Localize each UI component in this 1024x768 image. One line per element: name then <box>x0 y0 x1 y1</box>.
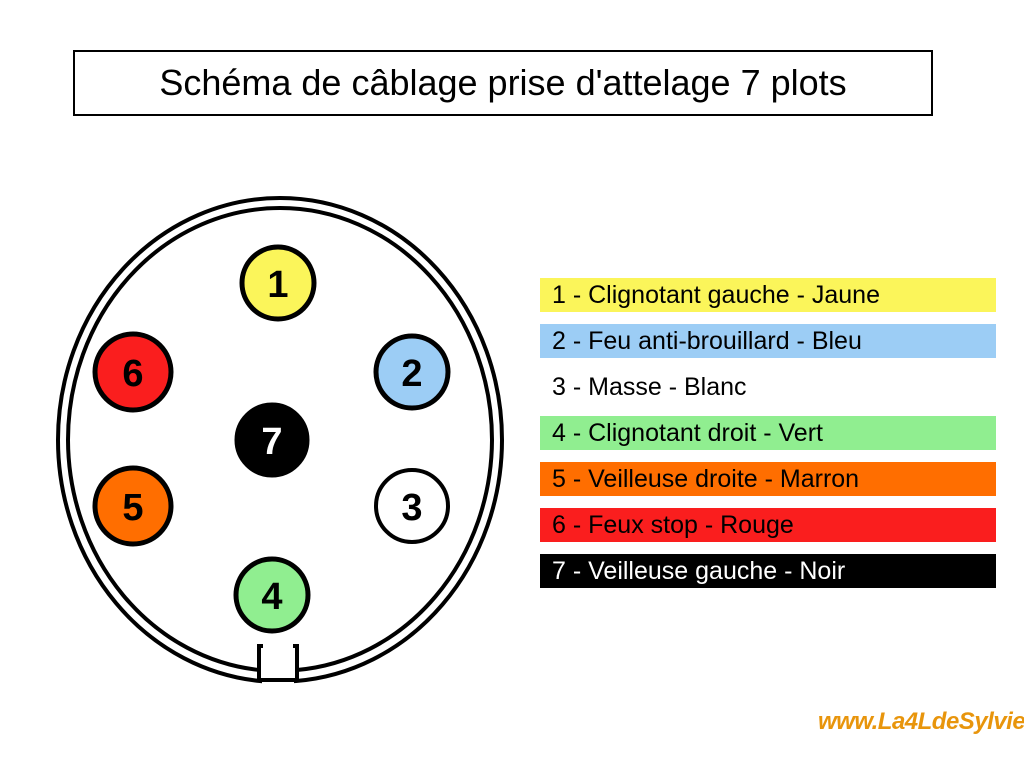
pin-5-number: 5 <box>122 487 143 529</box>
pin-3-number: 3 <box>401 487 422 529</box>
connector-diagram: 1 2 3 4 5 6 7 <box>40 180 530 700</box>
pin-7-number: 7 <box>261 421 282 463</box>
legend-row-5: 5 - Veilleuse droite - Marron <box>540 462 996 496</box>
pin-7[interactable]: 7 <box>236 404 308 476</box>
connector-keyway-notch <box>259 642 297 680</box>
legend-row-4: 4 - Clignotant droit - Vert <box>540 416 996 450</box>
pin-4[interactable]: 4 <box>236 559 308 631</box>
site-watermark: www.La4LdeSylvie.fr <box>818 708 1024 736</box>
legend-row-3: 3 - Masse - Blanc <box>540 370 996 404</box>
page-title: Schéma de câblage prise d'attelage 7 plo… <box>159 62 846 104</box>
legend-label-3: 3 - Masse - Blanc <box>552 375 747 400</box>
legend-label-2: 2 - Feu anti-brouillard - Bleu <box>552 329 862 354</box>
legend-row-2: 2 - Feu anti-brouillard - Bleu <box>540 324 996 358</box>
title-box: Schéma de câblage prise d'attelage 7 plo… <box>73 50 933 116</box>
legend-row-1: 1 - Clignotant gauche - Jaune <box>540 278 996 312</box>
pin-2-number: 2 <box>401 353 422 395</box>
watermark-text: www.La4LdeSylvie.fr <box>818 708 1024 735</box>
legend-label-1: 1 - Clignotant gauche - Jaune <box>552 283 880 308</box>
pin-6[interactable]: 6 <box>95 334 171 410</box>
pin-2[interactable]: 2 <box>376 336 448 408</box>
legend-row-7: 7 - Veilleuse gauche - Noir <box>540 554 996 588</box>
pin-4-number: 4 <box>261 576 282 618</box>
pin-5[interactable]: 5 <box>95 468 171 544</box>
pin-1-number: 1 <box>267 264 288 306</box>
legend-label-7: 7 - Veilleuse gauche - Noir <box>552 559 845 584</box>
legend: 1 - Clignotant gauche - Jaune 2 - Feu an… <box>540 278 996 588</box>
legend-row-6: 6 - Feux stop - Rouge <box>540 508 996 542</box>
pin-1[interactable]: 1 <box>242 247 314 319</box>
legend-label-4: 4 - Clignotant droit - Vert <box>552 421 823 446</box>
legend-label-5: 5 - Veilleuse droite - Marron <box>552 467 859 492</box>
pin-6-number: 6 <box>122 353 143 395</box>
legend-label-6: 6 - Feux stop - Rouge <box>552 513 794 538</box>
pin-3[interactable]: 3 <box>376 470 448 542</box>
